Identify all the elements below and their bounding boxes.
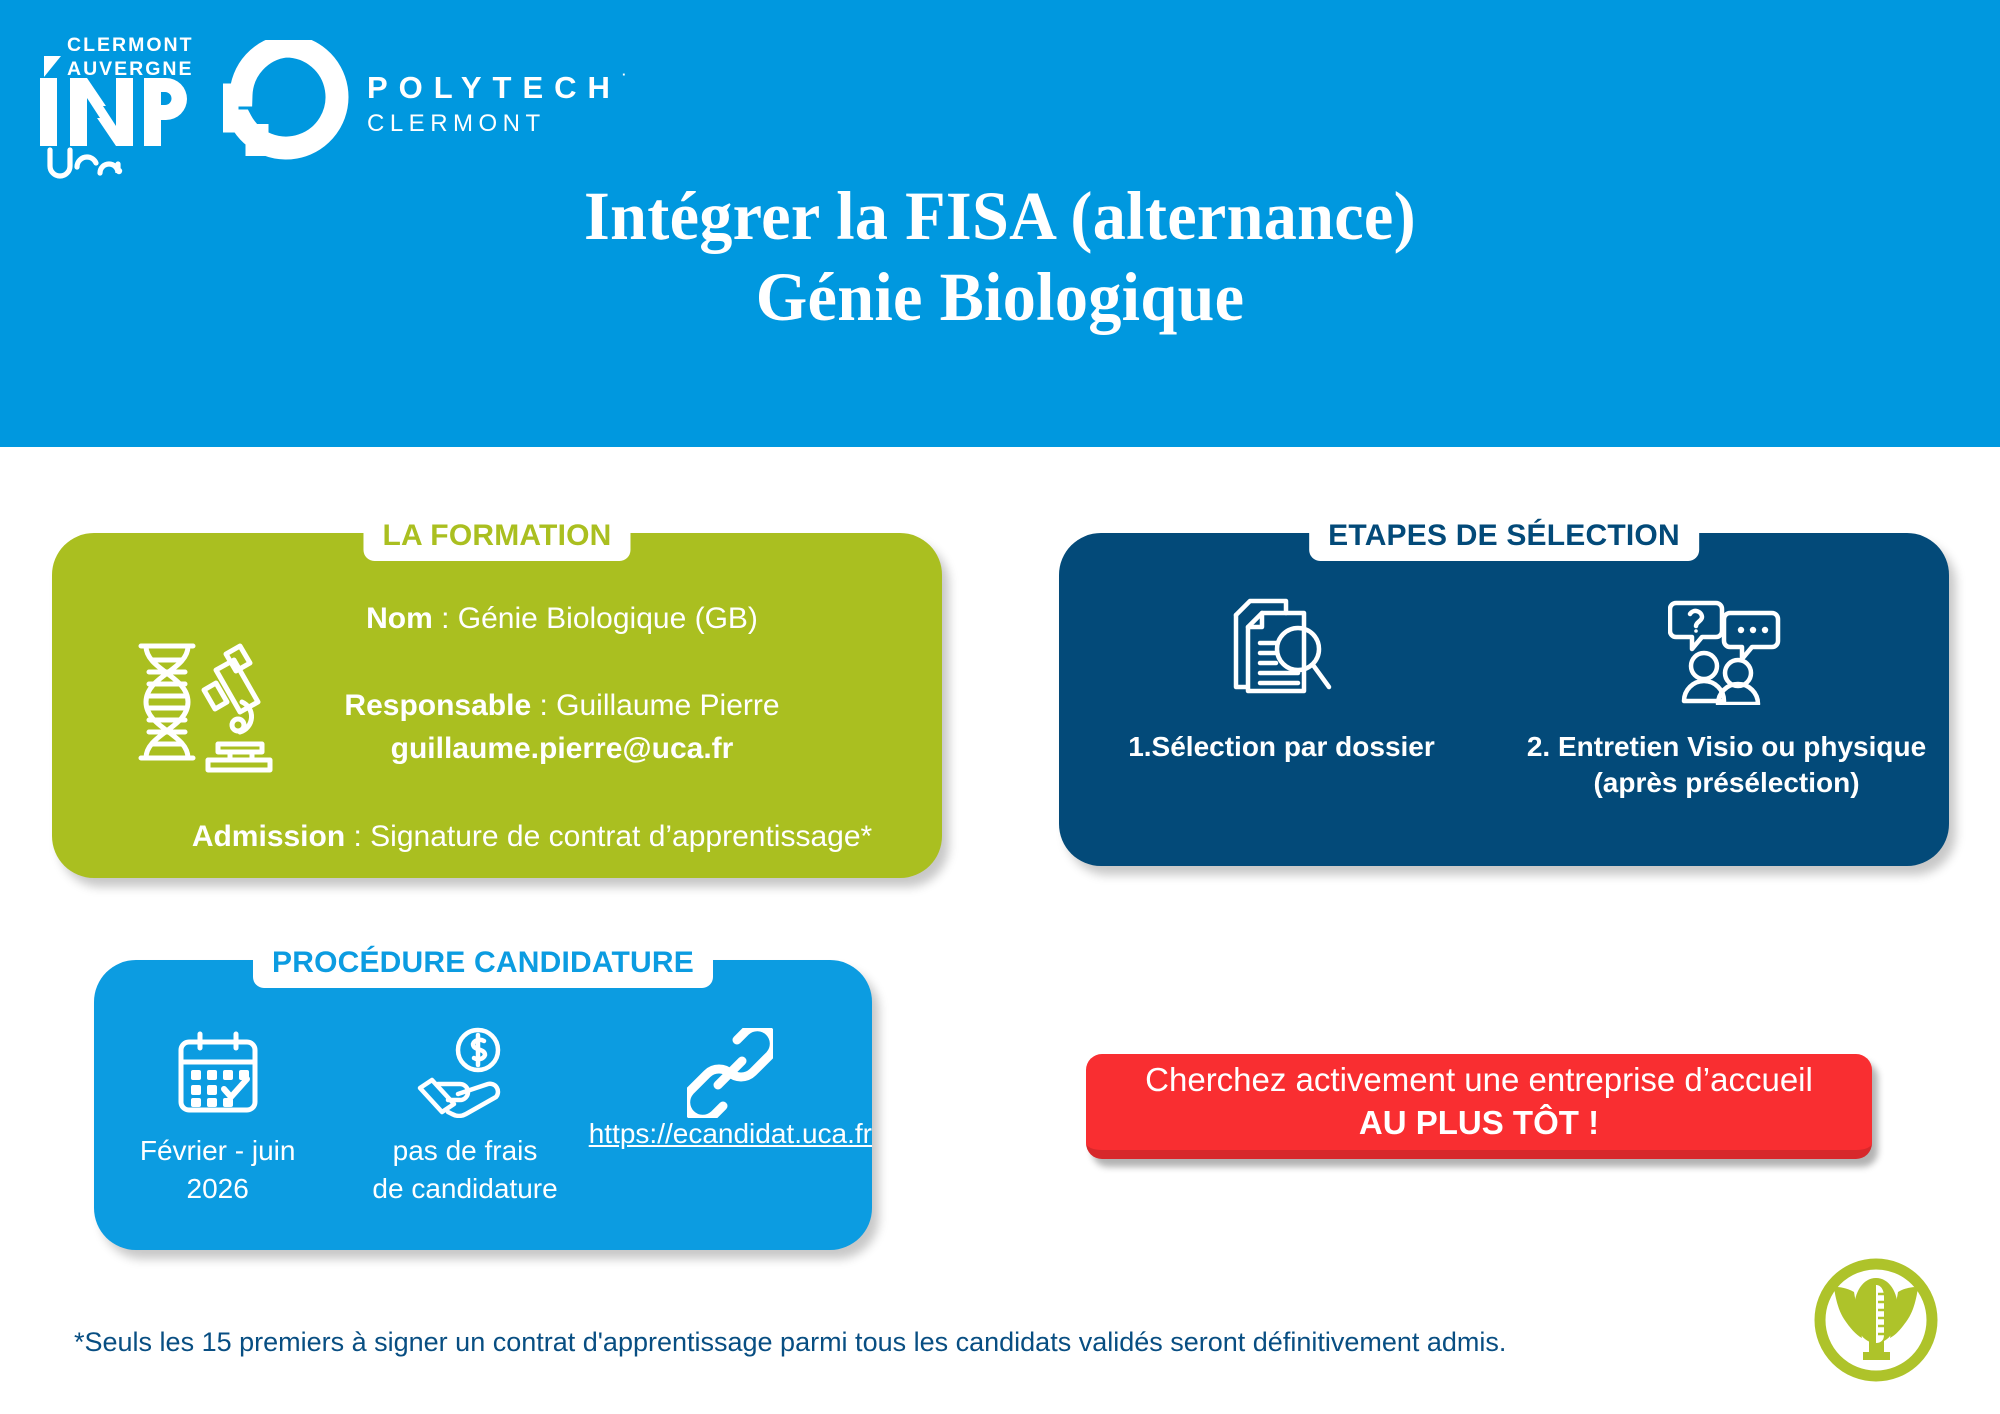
selection-step-2: 2. Entretien Visio ou physique (après pr… — [1504, 593, 1949, 801]
interview-people-icon — [1504, 593, 1949, 705]
polytech-subtitle: CLERMONT — [367, 112, 621, 136]
card-procedure-badge: PROCÉDURE CANDIDATURE — [253, 940, 713, 988]
card-formation-text: Nom : Génie Biologique (GB) Responsable … — [182, 587, 942, 857]
formation-responsable-label: Responsable — [344, 689, 531, 722]
logo-group: CLERMONT AUVERGNE — [26, 34, 621, 184]
procedure-dates-label: Février - juin 2026 — [94, 1132, 341, 1208]
formation-admission-label: Admission — [192, 820, 345, 853]
header-banner: CLERMONT AUVERGNE — [0, 0, 2000, 447]
call-to-action-line-2: AU PLUS TÔT ! — [1359, 1105, 1599, 1142]
card-selection-badge: ETAPES DE SÉLECTION — [1309, 513, 1699, 561]
selection-step-1-label: 1.Sélection par dossier — [1059, 729, 1504, 765]
page-title-line-2: Génie Biologique — [40, 257, 1960, 338]
footnote-text: *Seuls les 15 premiers à signer un contr… — [74, 1327, 1506, 1358]
document-magnifier-icon — [1059, 593, 1504, 705]
call-to-action-line-1: Cherchez activement une entreprise d’acc… — [1145, 1062, 1813, 1099]
inp-logo-line2: AUVERGNE — [67, 60, 194, 80]
card-selection-steps: ETAPES DE SÉLECTION 1.Sélection par dos — [1059, 533, 1949, 866]
inp-triangle-icon — [44, 56, 61, 77]
procedure-fees-line-1: pas de frais — [341, 1132, 588, 1170]
page-title-line-1: Intégrer la FISA (alternance) — [40, 176, 1960, 257]
formation-admission-row: Admission : Signature de contrat d’appre… — [122, 817, 942, 857]
ecandidat-link[interactable]: https://ecandidat.uca.fr — [589, 1118, 872, 1149]
call-to-action-banner[interactable]: Cherchez activement une entreprise d’acc… — [1086, 1054, 1872, 1159]
formation-admission-value: : Signature de contrat d’apprentissage* — [345, 820, 872, 853]
polytech-title: POLYTECH· — [367, 72, 621, 103]
formation-responsable-row: Responsable : Guillaume Pierre — [182, 686, 942, 726]
selection-step-2-line-1: 2. Entretien Visio ou physique — [1516, 729, 1937, 765]
selection-step-2-label: 2. Entretien Visio ou physique (après pr… — [1504, 729, 1949, 801]
polytech-text-block: POLYTECH· CLERMONT — [367, 72, 621, 136]
polytech-clermont-logo: POLYTECH· CLERMONT — [223, 40, 621, 167]
formation-nom-label: Nom — [366, 602, 433, 635]
procedure-fees-label: pas de frais de candidature — [341, 1132, 588, 1208]
selection-step-1: 1.Sélection par dossier — [1059, 593, 1504, 801]
procedure-items-row: Février - juin 2026 pas de — [94, 1022, 872, 1208]
polytech-mark-icon — [223, 40, 349, 167]
polytech-registered-mark: · — [622, 68, 626, 81]
card-formation-badge: LA FORMATION — [363, 513, 630, 561]
formation-nom-row: Nom : Génie Biologique (GB) — [182, 599, 942, 639]
polytech-title-text: POLYTECH — [367, 70, 621, 105]
procedure-item-link: https://ecandidat.uca.fr — [589, 1022, 872, 1150]
procedure-dates-line-2: 2026 — [94, 1170, 341, 1208]
procedure-dates-line-1: Février - juin — [94, 1132, 341, 1170]
inp-logo-line1: CLERMONT — [67, 36, 194, 56]
inp-wordmark-icon — [40, 78, 190, 151]
selection-step-2-line-2: (après présélection) — [1516, 765, 1937, 801]
card-procedure-candidature: PROCÉDURE CANDIDATURE — [94, 960, 872, 1250]
hand-coin-icon — [341, 1022, 588, 1118]
corn-icon — [1808, 1252, 1944, 1393]
formation-email[interactable]: guillaume.pierre@uca.fr — [182, 729, 942, 769]
card-formation-body: Nom : Génie Biologique (GB) Responsable … — [52, 587, 942, 878]
card-formation: LA FORMATION — [52, 533, 942, 878]
formation-responsable-value: : Guillaume Pierre — [531, 689, 779, 722]
selection-steps-row: 1.Sélection par dossier — [1059, 593, 1949, 801]
procedure-item-fees: pas de frais de candidature — [341, 1022, 588, 1208]
clermont-auvergne-inp-logo: CLERMONT AUVERGNE — [26, 34, 201, 184]
formation-nom-value: : Génie Biologique (GB) — [433, 602, 758, 635]
calendar-check-icon — [94, 1022, 341, 1118]
procedure-fees-line-2: de candidature — [341, 1170, 588, 1208]
chain-link-icon — [589, 1022, 872, 1118]
procedure-item-dates: Février - juin 2026 — [94, 1022, 341, 1208]
page-title: Intégrer la FISA (alternance) Génie Biol… — [0, 176, 2000, 339]
